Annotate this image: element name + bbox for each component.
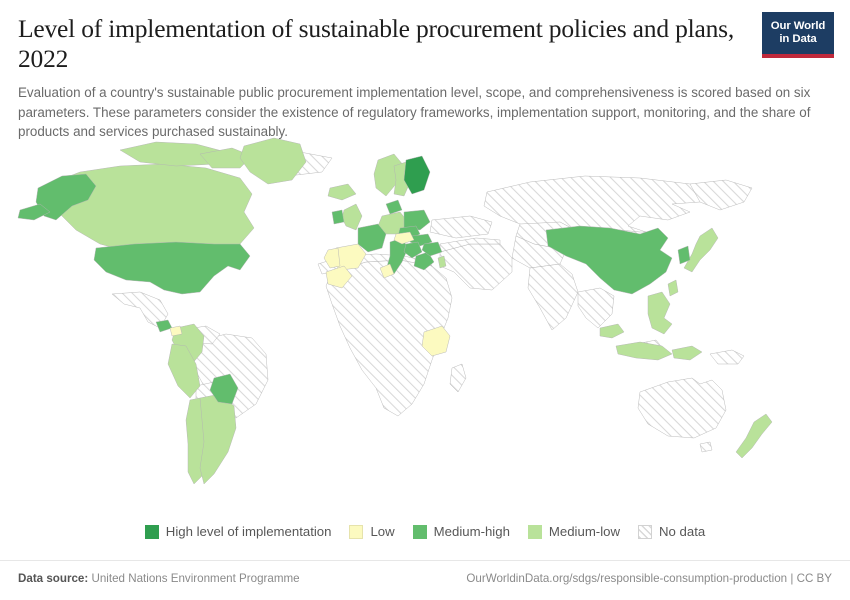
country-new-zealand[interactable] xyxy=(736,414,772,458)
license-link[interactable]: OurWorldinData.org/sdgs/responsible-cons… xyxy=(466,572,832,585)
country-philippines[interactable] xyxy=(648,292,672,334)
country-costa-rica[interactable] xyxy=(156,320,172,332)
country-iceland[interactable] xyxy=(328,184,356,200)
data-source-label: Data source: xyxy=(18,572,88,585)
legend-label-no-data: No data xyxy=(659,524,705,539)
world-map[interactable] xyxy=(0,132,850,520)
owid-logo-line1: Our World xyxy=(771,20,826,33)
legend-label-medium-high: Medium-high xyxy=(434,524,510,539)
country-ukraine-belarus[interactable] xyxy=(430,216,492,238)
legend-item-no-data[interactable]: No data xyxy=(638,524,705,539)
legend-swatch-medium-high xyxy=(413,525,427,539)
country-united-states[interactable] xyxy=(94,242,250,294)
page-title: Level of implementation of sustainable p… xyxy=(18,14,753,74)
country-tasmania[interactable] xyxy=(700,442,712,452)
country-ireland[interactable] xyxy=(332,210,344,224)
country-india[interactable] xyxy=(528,264,578,330)
header: Level of implementation of sustainable p… xyxy=(0,0,850,142)
country-uk[interactable] xyxy=(342,204,362,230)
country-se-asia[interactable] xyxy=(578,288,614,328)
legend-label-low: Low xyxy=(370,524,394,539)
legend-swatch-high xyxy=(145,525,159,539)
legend-swatch-medium-low xyxy=(528,525,542,539)
country-siberia-east[interactable] xyxy=(690,180,752,210)
legend-swatch-low xyxy=(349,525,363,539)
country-malaysia[interactable] xyxy=(600,324,624,338)
chart-page: Level of implementation of sustainable p… xyxy=(0,0,850,600)
footer: Data source: United Nations Environment … xyxy=(0,560,850,585)
legend-item-low[interactable]: Low xyxy=(349,524,394,539)
map-legend: High level of implementation Low Medium-… xyxy=(0,524,850,539)
legend-item-medium-low[interactable]: Medium-low xyxy=(528,524,620,539)
country-indonesia[interactable] xyxy=(616,342,672,360)
country-greenland[interactable] xyxy=(240,138,306,184)
country-middle-east[interactable] xyxy=(440,244,512,290)
country-taiwan[interactable] xyxy=(668,280,678,296)
legend-item-high[interactable]: High level of implementation xyxy=(145,524,332,539)
country-argentina[interactable] xyxy=(200,394,236,484)
country-finland[interactable] xyxy=(404,156,430,194)
legend-item-medium-high[interactable]: Medium-high xyxy=(413,524,510,539)
legend-swatch-no-data xyxy=(638,525,652,539)
country-panama[interactable] xyxy=(170,326,182,336)
data-source-value: United Nations Environment Programme xyxy=(91,572,299,585)
country-indonesia2[interactable] xyxy=(672,346,702,360)
country-madagascar[interactable] xyxy=(450,364,466,392)
data-source: Data source: United Nations Environment … xyxy=(18,572,300,585)
country-japan[interactable] xyxy=(684,228,718,272)
legend-label-medium-low: Medium-low xyxy=(549,524,620,539)
owid-logo-line2: in Data xyxy=(779,33,816,46)
owid-logo[interactable]: Our World in Data xyxy=(762,12,834,58)
country-australia[interactable] xyxy=(638,378,726,438)
country-papua[interactable] xyxy=(710,350,744,364)
legend-label-high: High level of implementation xyxy=(166,524,332,539)
